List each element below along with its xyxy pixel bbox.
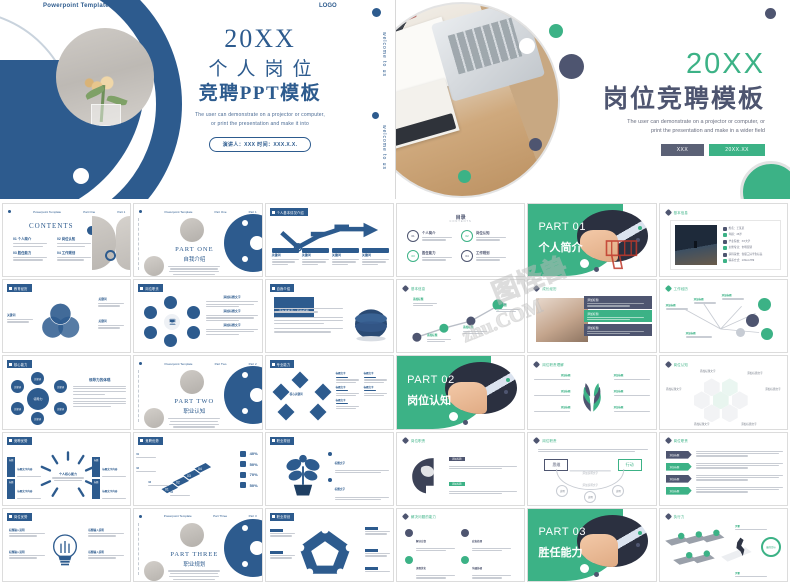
- thumb-header-title: Powerpoint Template: [165, 362, 193, 366]
- hex-label: 添加标题文字: [737, 423, 761, 427]
- item-label: 岗位认知: [476, 231, 506, 235]
- item-num: 01: [411, 234, 414, 238]
- edit-icon: [144, 306, 157, 319]
- slide-title: 岗位优势: [14, 514, 28, 519]
- list-item: 添加标题: [449, 447, 520, 470]
- hero-year: 20XX: [170, 26, 350, 52]
- slide-title: 专业能力: [277, 362, 291, 367]
- thumbnail-venn-blue[interactable]: 教育经历 关键词 关键词 关键词: [2, 279, 131, 353]
- slide-title: 基本信息: [674, 210, 688, 215]
- hero-subtitle-line2: or print the presentation and make it in…: [170, 120, 350, 130]
- navy-dot-2: [529, 138, 542, 151]
- step-text: 02: [136, 467, 158, 472]
- venn-label-top: 关键词: [98, 298, 126, 306]
- slide-template-preview-sheet: Powerpoint Template LOGO 20XX 个人岗位 竞聘PPT…: [0, 0, 790, 584]
- list-item: 添加标题文字: [206, 310, 257, 321]
- list-item: 主修专业：市场营销: [723, 246, 776, 250]
- list-item: 70%: [240, 472, 258, 478]
- part-title: 职业规划: [156, 560, 232, 568]
- logo-dot-icon: [139, 210, 142, 213]
- part-title: 个人简介: [539, 239, 587, 255]
- pentagon-label: [270, 551, 296, 559]
- orbit-node[interactable]: 关键词: [54, 380, 67, 393]
- divider-line: [138, 218, 140, 270]
- slide-title-bar: 执行力: [664, 513, 689, 521]
- part-title: 职业认知: [156, 407, 232, 415]
- white-hole: [250, 541, 263, 555]
- list-item: 标题文字: [336, 386, 360, 396]
- slide-title-bar: 岗位职责: [401, 437, 429, 445]
- list-item[interactable]: 添加标题: [584, 310, 651, 322]
- list-item[interactable]: 02 岗位认知: [461, 230, 509, 242]
- list-item[interactable]: 01 个人简介: [407, 230, 455, 242]
- part-label: PART ONE: [156, 246, 232, 253]
- logo-dot-icon: [139, 362, 142, 365]
- hero-blue-body: 20XX 个人岗位 竞聘PPT模板 The user can demonstra…: [170, 26, 350, 152]
- orbit-node[interactable]: 关键词: [11, 380, 24, 393]
- orbit-diagram: 领导力 关键词 关键词 关键词 关键词 关键词 关键词: [9, 372, 69, 426]
- slide-title-bar: 职业规划: [270, 513, 295, 521]
- brain-head-icon: [403, 451, 449, 499]
- step-arrows: [662, 527, 766, 577]
- item-label: 胜任能力: [422, 251, 452, 255]
- white-dot: [449, 412, 458, 421]
- thumb-header-part: Part Two: [215, 362, 227, 366]
- thumbnail-part-three-blue[interactable]: Powerpoint Template Part Three Part 3 PA…: [133, 508, 262, 582]
- orbit-node[interactable]: 关键词: [11, 402, 24, 415]
- thumbnail-radial-icons-green[interactable]: 工作经历 添加标题 添加标题 添加标题 添加标题: [659, 279, 788, 353]
- pentagon-label: [365, 567, 391, 573]
- hex-label: 添加标题文字: [662, 388, 686, 392]
- thumbnail-pentagon-blue[interactable]: 职业规划: [265, 508, 394, 582]
- thumbnail-ribbon-list-green[interactable]: 岗位职责 添加标题 添加标题 添加标题 添加标题: [659, 432, 788, 506]
- hero-title-line1: 个人岗位: [170, 59, 350, 81]
- slide-title-bar: 专业能力: [270, 360, 295, 368]
- item-num: 01: [13, 237, 17, 241]
- pentagon-diagram: [296, 525, 354, 577]
- list-item[interactable]: 添加标题: [584, 324, 651, 336]
- thumb-header-title: Powerpoint Template: [164, 210, 192, 214]
- list-item[interactable]: 01 个人简介: [13, 237, 51, 247]
- venn-label-left: 关键词: [7, 314, 35, 322]
- thumbnail-part-one-blue[interactable]: Powerpoint Template Part One Part 1 PART…: [133, 203, 262, 277]
- item-num: 03: [411, 254, 414, 258]
- thumbnail-orbit-blue[interactable]: 核心能力 领导力 关键词 关键词 关键词 关键词 关键词 关键词 领导力的体现: [2, 355, 131, 429]
- thumb-header-part: Part Three: [213, 514, 227, 518]
- checklist-items: 解决方案 应急处理 流程优化 沟通协调 团队协作 自我驱动: [405, 529, 518, 582]
- list-item: 50%: [240, 482, 258, 488]
- part-title: 岗位认知: [407, 392, 455, 408]
- item-label: 胜任能力: [18, 251, 32, 255]
- navy-dot: [463, 420, 468, 425]
- thumbnail-contents-green[interactable]: 目录 CONTENTS 01 个人简介 02 岗位认知 03 胜任能力 04 工…: [396, 203, 525, 277]
- suit-thumbs-up-photo: [445, 362, 516, 414]
- bullet-icon: [328, 478, 332, 482]
- bullet-icon: [723, 227, 727, 231]
- slide-title: 自我介绍: [277, 286, 291, 291]
- hero-header-title: Powerpoint Template: [43, 3, 109, 9]
- slide-title: 基本信息: [411, 286, 425, 291]
- step-label: 关键词: [362, 254, 389, 258]
- list-item: 获得荣誉：省级三好学生标兵: [723, 253, 776, 257]
- flower-thumb-photo: [180, 523, 204, 547]
- thumbnail-text-globe-blue[interactable]: 自我介绍 请在此处输入您的标题: [265, 279, 394, 353]
- bullet-icon: [723, 246, 727, 250]
- globe-icon: [351, 304, 391, 344]
- monitor-icon: 🖥: [169, 319, 177, 326]
- diamond-icon: [665, 361, 672, 368]
- list-item: 标题输入说明: [9, 529, 47, 537]
- hero-slide-blue[interactable]: Powerpoint Template LOGO 20XX 个人岗位 竞聘PPT…: [0, 0, 395, 199]
- slide-title-bar: 基本信息: [664, 208, 692, 216]
- thumbnail-part-two-blue[interactable]: Powerpoint Template Part Two Part 2 PART…: [133, 355, 262, 429]
- diamond-icon: [533, 437, 540, 444]
- slide-title-bar: 岗位认知: [664, 360, 692, 368]
- thumb-header: Powerpoint Template Part One Part 1: [8, 208, 125, 215]
- diamond-node[interactable]: [277, 404, 294, 421]
- list-item[interactable]: 沟通协调: [461, 556, 511, 578]
- flow-icon: [405, 556, 413, 564]
- diamond-node[interactable]: [291, 372, 308, 389]
- list-item[interactable]: 标题标题文字内容: [92, 479, 126, 499]
- thumbnail-stairs-percent-blue[interactable]: 竞聘优势 01 02 03 04 01 02 03 04 40% 50% 70%…: [133, 432, 262, 506]
- white-dot: [242, 256, 248, 262]
- list-item[interactable]: 添加标题: [666, 487, 783, 495]
- green-dot-2: [458, 170, 471, 183]
- slide-title-bar: 核心能力: [7, 360, 32, 368]
- node-label: 添加标题: [427, 334, 453, 342]
- step-card[interactable]: 关键词: [272, 248, 299, 265]
- slide-title: 工作经历: [674, 286, 688, 291]
- diamond-icon: [402, 513, 409, 520]
- diamond-node[interactable]: [314, 384, 331, 401]
- white-dot: [242, 561, 248, 567]
- flow-node[interactable]: 说明: [556, 485, 568, 497]
- list-item: 标题输入说明: [88, 551, 126, 559]
- slide-title: 职业规划: [277, 438, 291, 443]
- thumb-header-num: Part 3: [249, 514, 257, 518]
- thumb-header-num: Part 2: [249, 362, 257, 366]
- list-item[interactable]: 03 胜任能力: [407, 250, 455, 262]
- navy-dot: [594, 572, 599, 577]
- node-label: 添加标题: [686, 332, 714, 337]
- green-dot: [638, 226, 642, 230]
- thumbnail-bulb-points-blue[interactable]: 岗位优势 标题输入说明 标题输入说明 标题输入说明 标题输入说明: [2, 508, 131, 582]
- svg-text:01: 01: [165, 487, 169, 491]
- hero-title-line2: 竞聘PPT模板: [170, 83, 350, 105]
- pentagon-label: [365, 527, 391, 535]
- leaf-label: 添加标题: [614, 374, 652, 379]
- vase-shape: [91, 104, 120, 126]
- square-icon: [140, 439, 143, 442]
- list-item: 添加标题文字: [206, 296, 257, 307]
- step-text: 03: [148, 481, 170, 486]
- item-label: 个人简介: [422, 231, 452, 235]
- diamond-icon: [665, 285, 672, 292]
- list-item[interactable]: 04 工作规划: [57, 251, 95, 261]
- logo-dot-icon: [139, 515, 142, 518]
- hero-button-xxx[interactable]: XXX: [661, 144, 705, 156]
- step-label: 关键词: [332, 254, 359, 258]
- part-label-block: PART 03 胜任能力: [539, 526, 587, 560]
- step-card[interactable]: 关键词: [332, 248, 359, 265]
- list-item[interactable]: 04 工作规划: [461, 250, 509, 262]
- square-icon: [9, 363, 12, 366]
- thumbnail-profile-green[interactable]: 基本信息 姓名：王某某 年龄：26岁 毕业院校：XX大学 主修专业：市场营销 获…: [659, 203, 788, 277]
- hero-green-body: 20XX 岗位竞聘模板 The user can demonstrate on …: [571, 50, 771, 156]
- icon-ring-texts: 添加标题文字 添加标题文字 添加标题文字: [206, 296, 257, 335]
- hex-label: 添加标题文字: [690, 423, 714, 427]
- bullet-icon: [723, 253, 727, 257]
- item-num: 02: [57, 237, 61, 241]
- thumbnail-plant-list-blue[interactable]: 职业规划 标题文字 标题文字 标题文字: [265, 432, 394, 506]
- thumbnail-icon-checklist-green[interactable]: 解决问题的能力 解决方案 应急处理 流程优化 沟通协调 团队协作 自我驱动: [396, 508, 525, 582]
- flower-thumb-photo: [180, 370, 204, 394]
- hero-green-title: 岗位竞聘模板: [571, 86, 765, 114]
- part-number: PART 02: [407, 374, 455, 386]
- bullet-icon: [328, 452, 332, 456]
- slide-title: 解决问题的能力: [411, 514, 436, 519]
- bulb-icon: [240, 451, 246, 457]
- hero-presenter-pill: 演讲人：XXX 时间：XXX.X.X.: [209, 137, 312, 152]
- list-item[interactable]: 添加标题: [666, 463, 783, 471]
- hero-blue-header: Powerpoint Template LOGO: [0, 3, 395, 15]
- list-item[interactable]: 标题标题文字内容: [92, 457, 126, 477]
- item-num: 04: [57, 251, 61, 255]
- ribbon-rows: 添加标题 添加标题 添加标题 添加标题: [666, 451, 783, 495]
- item-label: 岗位认知: [62, 237, 76, 241]
- slide-title: 岗位职责: [145, 286, 159, 291]
- square-icon: [272, 363, 275, 366]
- lightbulb-icon: [45, 523, 85, 575]
- chat-icon: [164, 296, 177, 309]
- node-label: 添加标题: [722, 294, 746, 299]
- thumb-header: Powerpoint Template Part Two Part 2: [139, 360, 256, 367]
- list-item: 标题文字: [364, 386, 388, 396]
- slide-title-bar: 基本信息: [401, 284, 429, 292]
- square-icon: [9, 439, 12, 442]
- list-item: 标题输入说明: [88, 529, 126, 537]
- square-icon: [9, 515, 12, 518]
- flower-photo: [56, 28, 154, 126]
- list-item: 标题文字: [364, 372, 388, 382]
- diamond-node[interactable]: [272, 384, 289, 401]
- svg-text:03: 03: [187, 473, 191, 477]
- list-item[interactable]: 03 胜任能力: [13, 251, 51, 261]
- brain-rows: 添加标题 添加标题 添加标题 添加标题: [449, 447, 520, 506]
- profile-items: 姓名：王某某 年龄：26岁 毕业院校：XX大学 主修专业：市场营销 获得荣誉：省…: [723, 225, 776, 265]
- orbit-node[interactable]: 关键词: [31, 372, 44, 385]
- hero-button-date[interactable]: 20XX.XX: [709, 144, 765, 156]
- diagram-center-label: 核心关键词: [290, 392, 303, 396]
- leaf-label: 添加标题: [614, 406, 652, 411]
- square-icon: [9, 287, 12, 290]
- step-card[interactable]: 关键词: [362, 248, 389, 265]
- profile-card: 姓名：王某某 年龄：26岁 毕业院校：XX大学 主修专业：市场营销 获得荣誉：省…: [670, 220, 781, 270]
- thumbnail-think-act-green[interactable]: 岗位职责 思维 行动 添加说明文字 添加说明文字 说明 说明 说明: [527, 432, 656, 506]
- list-item: 添加标题: [449, 472, 520, 495]
- thumbnail-arrow-steps-blue[interactable]: 个人基本情况介绍 关键词 关键词: [265, 203, 394, 277]
- hero-vertical-text-top: welcome to us: [373, 32, 387, 77]
- svg-text:02: 02: [176, 480, 180, 484]
- contents-subtitle: CONTENTS: [397, 220, 524, 223]
- divider-line: [138, 523, 140, 575]
- center-label: 个人核心能力: [51, 473, 85, 482]
- orbit-node[interactable]: 关键词: [31, 412, 44, 425]
- list-item[interactable]: 添加标题: [666, 475, 783, 483]
- diamond-node[interactable]: [309, 404, 326, 421]
- chat-icon: [461, 556, 469, 564]
- list-item: 标题文字: [328, 451, 389, 474]
- thumbnail-hex-grid-green[interactable]: 岗位认知 添加标题文字 添加标题文字 添加标题文字 添加标题文字 添加标题文字 …: [659, 355, 788, 429]
- hero-green-subtitle-2: print the presentation and make in a wid…: [571, 127, 765, 137]
- list-item[interactable]: 添加标题: [666, 451, 783, 459]
- thumbnail-brain-list-green[interactable]: 岗位职责 添加标题 添加标题 添加标题 添加标题: [396, 432, 525, 506]
- thumbnail-leaf-chart-green[interactable]: 岗位职责理解 添加标题 添加标题 添加标题 添加标题 添加标题 添加标题: [527, 355, 656, 429]
- slide-title: 执行力: [674, 514, 685, 519]
- step-card[interactable]: 关键词: [302, 248, 329, 265]
- flow-node[interactable]: 说明: [612, 485, 624, 497]
- slide-title-bar: 岗位优势: [7, 513, 32, 521]
- red-paintbrush-icon: [600, 234, 652, 274]
- flow-node[interactable]: 说明: [584, 491, 596, 503]
- slide-title: 岗位认知: [674, 362, 688, 367]
- green-circle-bottom-right: [740, 161, 790, 199]
- item-label: 工作规划: [476, 251, 506, 255]
- slide-title-bar: 竞聘优势: [7, 437, 32, 445]
- venn-label-right: 关键词: [98, 320, 126, 328]
- hex-cell[interactable]: [694, 391, 710, 409]
- part-number: PART 03: [539, 526, 587, 538]
- part-title: 胜任能力: [539, 544, 587, 560]
- hex-label: 添加标题文字: [696, 370, 720, 374]
- hero-row: Powerpoint Template LOGO 20XX 个人岗位 竞聘PPT…: [0, 0, 790, 199]
- list-item: 标题文字: [328, 504, 389, 506]
- desk-laptop-photo: [395, 2, 560, 198]
- part-number: PART 01: [539, 221, 587, 233]
- slide-title: 岗位职责: [411, 438, 425, 443]
- blue-dot-mid: [372, 112, 379, 119]
- slide-title-bar: 自我介绍: [270, 284, 295, 292]
- slide-title-bar: 工作经历: [664, 284, 692, 292]
- thumbnail-part-03-green[interactable]: PART 03 胜任能力: [527, 508, 656, 582]
- thumb-header-num: Part 1: [117, 210, 125, 214]
- slide-title: 核心能力: [14, 362, 28, 367]
- leaf-diagram: [573, 372, 611, 422]
- thumbnail-radiate-blue[interactable]: 竞聘优势 个人核心能力 标题标题文字内容 标题标题文字内容 标题标题文字内容 标…: [2, 432, 131, 506]
- square-icon: [272, 211, 275, 214]
- list-item[interactable]: 解决方案: [405, 529, 455, 551]
- square-icon: [272, 515, 275, 518]
- hand-icon: [187, 326, 200, 339]
- step-label: 关键词: [302, 254, 329, 258]
- thumbnail-path-chart-green[interactable]: 基本信息 添加标题 添加标题 添加标题 添加标题: [396, 279, 525, 353]
- svg-text:04: 04: [198, 466, 202, 470]
- item-num: 04: [465, 254, 468, 258]
- square-icon: [272, 287, 275, 290]
- thumbnail-contents-blue[interactable]: Powerpoint Template Part One Part 1 CONT…: [2, 203, 131, 277]
- list-item: 标题文字: [328, 477, 389, 500]
- slide-title-bar: 成长经历: [532, 284, 560, 292]
- mail-icon: [144, 326, 157, 339]
- slide-title-bar: 岗位职责理解: [532, 360, 568, 368]
- navy-dot: [594, 267, 599, 272]
- slide-title: 岗位职责理解: [542, 362, 564, 367]
- photo-half-2: [116, 216, 130, 270]
- list-item[interactable]: 标题标题文字内容: [7, 457, 41, 477]
- thumb-header: Powerpoint Template Part One Part 1: [139, 208, 256, 215]
- green-dot-1: [549, 24, 563, 38]
- square-icon: [140, 287, 143, 290]
- white-dot-overlay: [519, 38, 535, 54]
- hero-green-buttons: XXX 20XX.XX: [571, 144, 765, 156]
- node-label: 添加标题: [496, 304, 522, 312]
- divider-line: [138, 370, 140, 422]
- list-item: 添加标题文字: [206, 324, 257, 335]
- mountain-photo: [675, 225, 717, 265]
- list-item: 40%: [240, 451, 258, 457]
- flower-thumb-photo: [180, 218, 204, 242]
- list-item[interactable]: 添加标题: [584, 296, 651, 308]
- orbit-node[interactable]: 关键词: [54, 402, 67, 415]
- list-item: 联系方式：133xxx789: [723, 259, 776, 263]
- thumbnail-runner-path-green[interactable]: 执行力 最终目标 步骤 步骤: [659, 508, 788, 582]
- list-item[interactable]: 应急处理: [461, 529, 511, 551]
- goal-badge: 最终目标: [761, 537, 781, 557]
- thumbnail-part-01-green[interactable]: PART 01 个人简介: [527, 203, 656, 277]
- thumbnail-photo-list-green[interactable]: 成长经历 添加标题 添加标题 添加标题: [527, 279, 656, 353]
- list-item[interactable]: 标题标题文字内容: [7, 479, 41, 499]
- list-item[interactable]: 02 岗位认知: [57, 237, 95, 247]
- item-num: 03: [13, 251, 17, 255]
- thumbnail-part-02-green[interactable]: PART 02 岗位认知: [396, 355, 525, 429]
- thumb-header-num: Part 1: [249, 210, 257, 214]
- plant-rows: 标题文字 标题文字 标题文字: [328, 451, 389, 506]
- list-item: 标题文字: [336, 399, 360, 409]
- white-dot-decoration: [73, 168, 89, 184]
- mid-bottom-label: 添加说明文字: [576, 473, 604, 491]
- hero-logo: LOGO: [319, 3, 337, 9]
- diamond-icon: [533, 285, 540, 292]
- potted-plant-icon: [280, 449, 326, 499]
- list-item[interactable]: 流程优化: [405, 556, 455, 578]
- thumbnail-grid: Powerpoint Template Part One Part 1 CONT…: [0, 203, 790, 584]
- orbit-text: 领导力的体现: [73, 378, 126, 407]
- hero-slide-green[interactable]: 20XX 岗位竞聘模板 The user can demonstrate on …: [395, 0, 790, 199]
- part-label: PART THREE: [156, 551, 232, 558]
- bullet-icon: [723, 259, 727, 263]
- thumb-header-title: Powerpoint Template: [33, 210, 61, 214]
- part-label: PART TWO: [156, 398, 232, 405]
- hex-cell[interactable]: [732, 391, 748, 409]
- diamond-icon: [533, 361, 540, 368]
- leaf-label: 添加标题: [614, 390, 652, 395]
- thumbnail-icon-ring-blue[interactable]: 岗位职责 🖥 添加标题文字 添加标题文字: [133, 279, 262, 353]
- step-text: 04: [170, 491, 192, 496]
- diamond-icon: [665, 437, 672, 444]
- chart-icon: [240, 472, 246, 478]
- list-item: 标题输入说明: [9, 551, 47, 559]
- contents-items: 01 个人简介 02 岗位认知 03 胜任能力 04 工作规划: [13, 237, 97, 261]
- venn-diagram: [25, 294, 97, 346]
- slide-title-bar: 职业规划: [270, 437, 295, 445]
- orbit-center: 领导力: [27, 388, 49, 410]
- thumbnail-diamond-ring-blue[interactable]: 专业能力 核心关键词 标题文字 标题文字 标题文字 标题文字 标题文字: [265, 355, 394, 429]
- diamond-icon: [402, 437, 409, 444]
- suit-thumbs-up-photo: [577, 515, 648, 567]
- logo-dot-icon: [8, 210, 11, 213]
- white-dot: [242, 525, 248, 531]
